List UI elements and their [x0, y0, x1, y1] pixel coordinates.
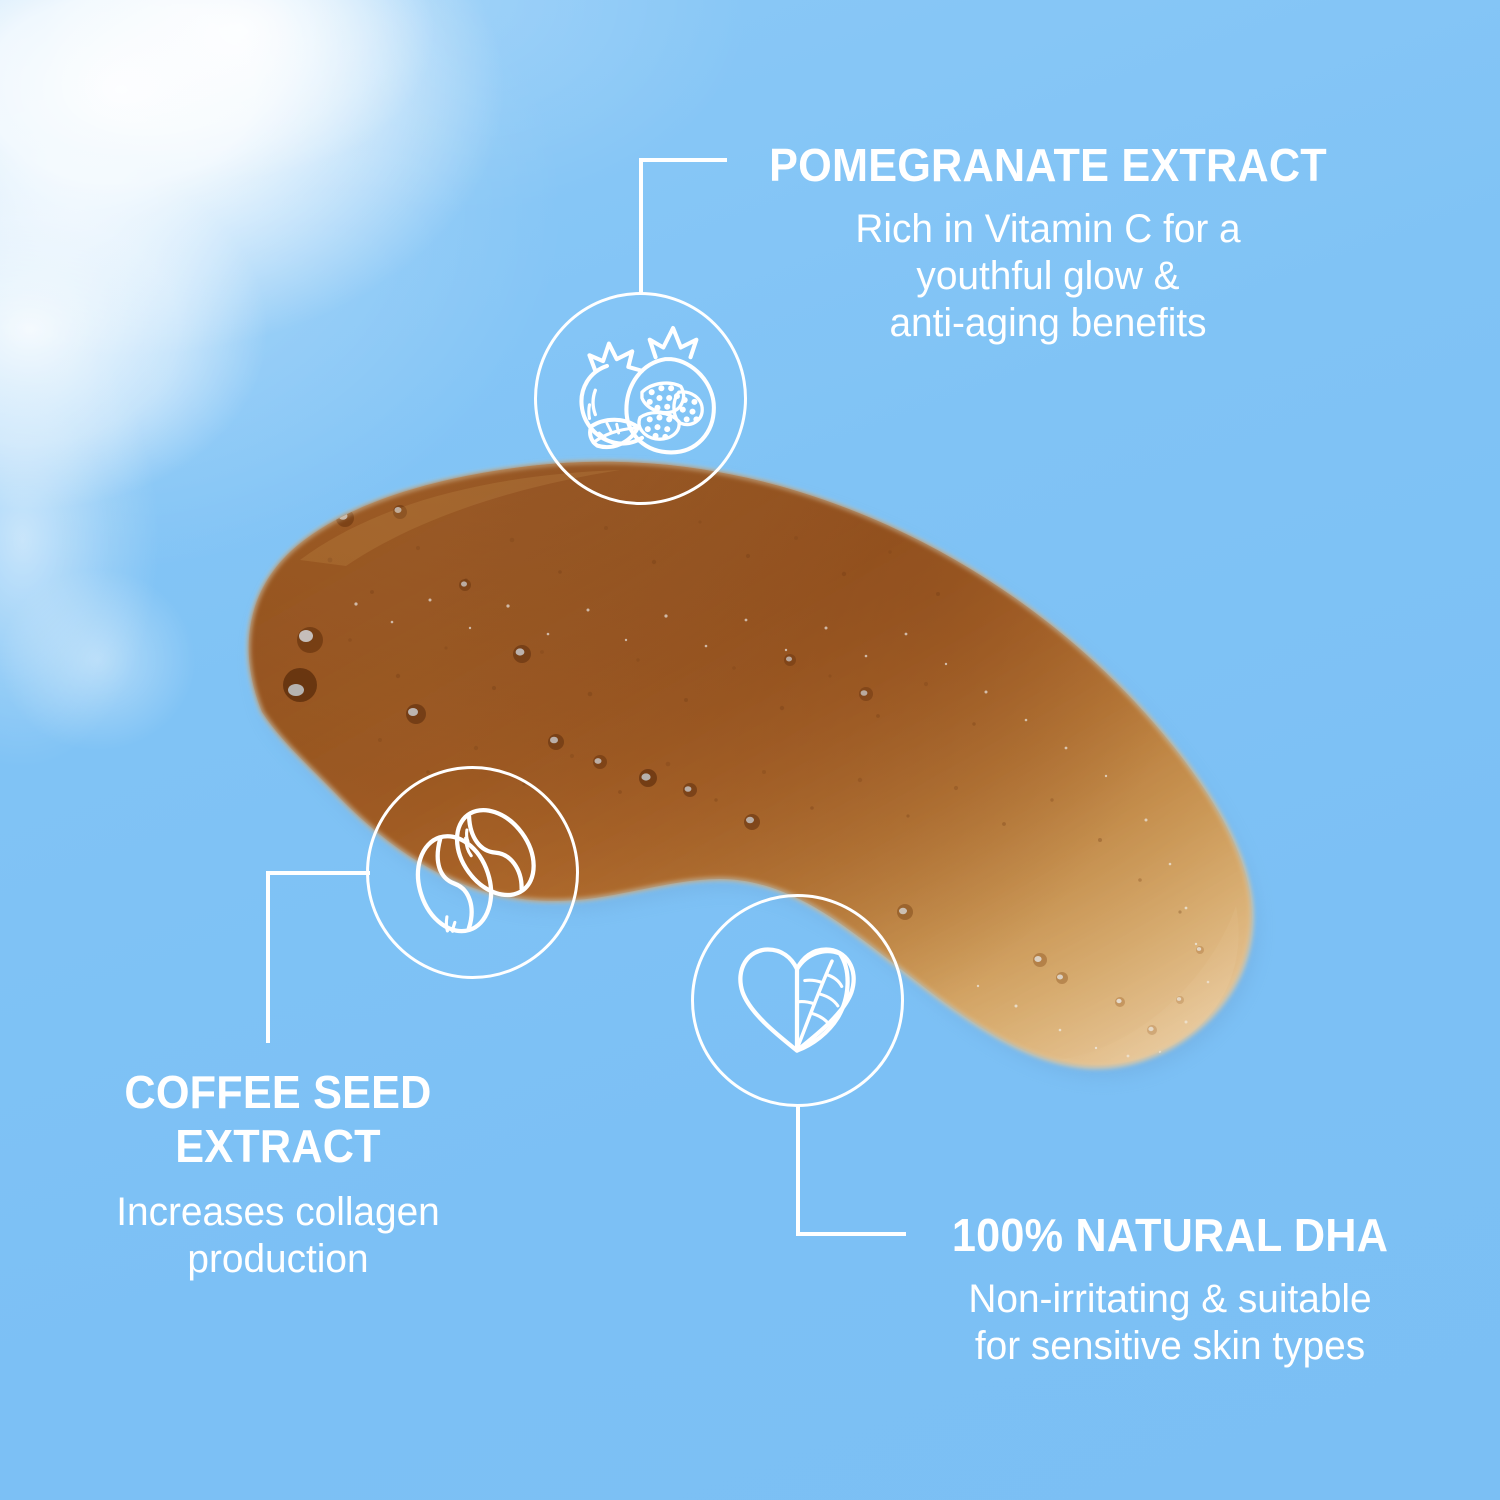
pomegranate-title: POMEGRANATE EXTRACT [710, 138, 1387, 192]
dha-body: Non-irritating & suitable for sensitive … [898, 1276, 1441, 1370]
coffee-title: COFFEE SEED EXTRACT [43, 1065, 513, 1173]
pomegranate-body: Rich in Vitamin C for a youthful glow & … [699, 206, 1397, 347]
callout-text-dha: 100% NATURAL DHA Non-irritating & suitab… [890, 1208, 1450, 1370]
callout-text-pomegranate: POMEGRANATE EXTRACT Rich in Vitamin C fo… [688, 138, 1408, 347]
coffee-bean-icon [366, 766, 579, 979]
coffee-body: Increases collagen production [36, 1189, 521, 1283]
dha-title: 100% NATURAL DHA [907, 1208, 1433, 1262]
callout-text-coffee: COFFEE SEED EXTRACT Increases collagen p… [28, 1065, 528, 1283]
heart-leaf-icon [691, 894, 904, 1107]
infographic-canvas: POMEGRANATE EXTRACT Rich in Vitamin C fo… [0, 0, 1500, 1500]
